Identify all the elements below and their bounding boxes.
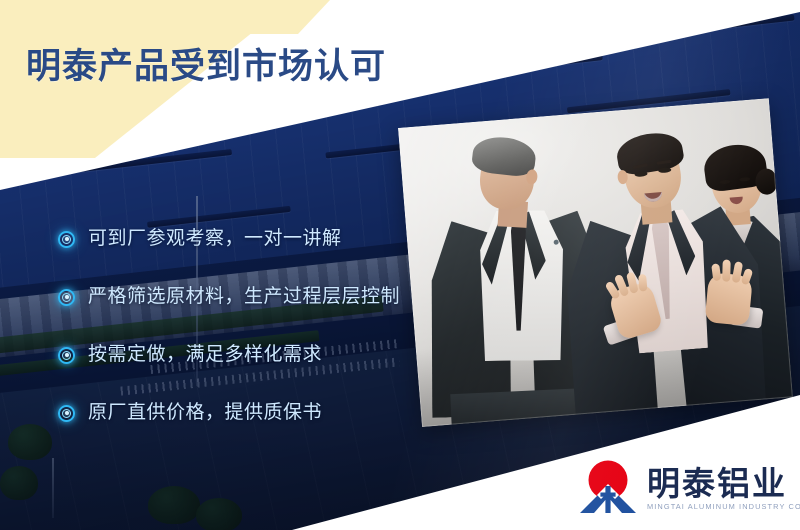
company-name-cn: 明泰铝业 [647, 466, 800, 501]
marketing-banner: 明泰产品受到市场认可 可到厂参观考察，一对一讲解 严格筛选原材料，生产过程层层控… [0, 0, 800, 530]
feature-text: 可到厂参观考察，一对一讲解 [88, 228, 342, 250]
company-logo[interactable]: 明泰铝业 MINGTAI ALUMINUM INDUSTRY CO., LTD [578, 459, 800, 514]
feature-list: 可到厂参观考察，一对一讲解 严格筛选原材料，生产过程层层控制 按需定做，满足多样… [58, 210, 388, 442]
company-name-en: MINGTAI ALUMINUM INDUSTRY CO., LTD [647, 502, 800, 512]
feature-text: 按需定做，满足多样化需求 [88, 344, 322, 366]
list-item: 原厂直供价格，提供质保书 [58, 384, 388, 442]
target-ring-icon [58, 231, 75, 248]
logo-wordmark: 明泰铝业 MINGTAI ALUMINUM INDUSTRY CO., LTD [647, 466, 800, 514]
target-ring-icon [58, 347, 75, 364]
target-ring-icon [58, 289, 75, 306]
mingtai-sun-mountain-icon [578, 459, 638, 514]
page-title: 明泰产品受到市场认可 [26, 45, 386, 89]
feature-text: 严格筛选原材料，生产过程层层控制 [88, 286, 400, 308]
business-people-photo [398, 98, 793, 427]
feature-text: 原厂直供价格，提供质保书 [88, 402, 322, 424]
list-item: 可到厂参观考察，一对一讲解 [58, 210, 388, 268]
list-item: 严格筛选原材料，生产过程层层控制 [58, 268, 388, 326]
list-item: 按需定做，满足多样化需求 [58, 326, 388, 384]
target-ring-icon [58, 405, 75, 422]
gesturing-hand-right [705, 272, 754, 326]
